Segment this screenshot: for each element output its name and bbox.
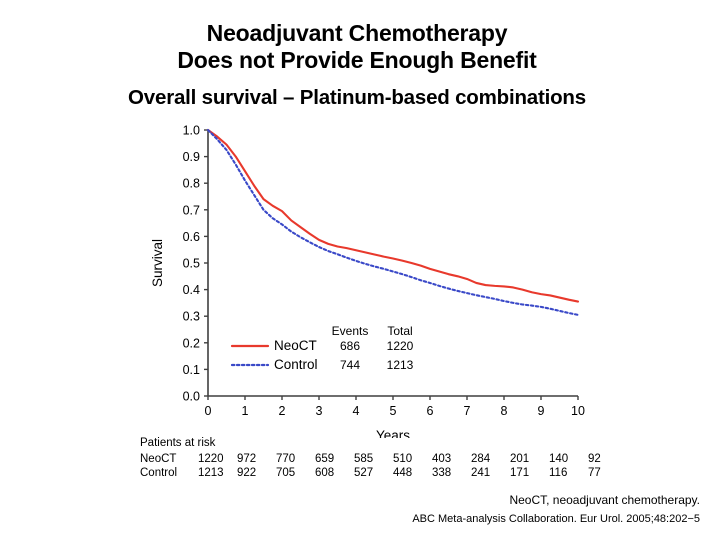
- x-tick-label: 5: [390, 404, 397, 418]
- risk-cell: 171: [510, 466, 549, 480]
- x-tick-label: 2: [279, 404, 286, 418]
- y-tick-label: 0.6: [183, 230, 200, 244]
- y-axis-title: Survival: [150, 239, 165, 287]
- y-tick-label: 0.9: [183, 150, 200, 164]
- risk-cell: 77: [588, 466, 627, 480]
- x-tick-label: 0: [205, 404, 212, 418]
- risk-cell: 510: [393, 452, 432, 466]
- series-line-control: [208, 130, 578, 315]
- patients-at-risk-table: Patients at risk NeoCT122097277065958551…: [140, 437, 610, 480]
- risk-cell: 448: [393, 466, 432, 480]
- risk-cell: 241: [471, 466, 510, 480]
- risk-cell: 140: [549, 452, 588, 466]
- risk-cell: 1220: [198, 452, 237, 466]
- risk-cell: 705: [276, 466, 315, 480]
- legend-header-total: Total: [387, 324, 412, 338]
- risk-cell: 585: [354, 452, 393, 466]
- x-tick-label: 8: [501, 404, 508, 418]
- series-line-neoct: [208, 130, 578, 302]
- title-line-1: Neoadjuvant Chemotherapy: [0, 20, 714, 47]
- table-row: NeoCT122097277065958551040328420114092: [140, 452, 627, 466]
- x-tick-label: 7: [464, 404, 471, 418]
- risk-table: NeoCT122097277065958551040328420114092Co…: [140, 452, 627, 480]
- x-tick-label: 4: [353, 404, 360, 418]
- y-tick-label: 0.5: [183, 257, 200, 271]
- legend-total-neoct: 1220: [387, 339, 414, 353]
- x-tick-label: 9: [538, 404, 545, 418]
- legend-events-neoct: 686: [340, 339, 360, 353]
- title-line-2: Does not Provide Enough Benefit: [0, 47, 714, 74]
- risk-cell: 403: [432, 452, 471, 466]
- abbreviation-note: NeoCT, neoadjuvant chemotherapy.: [412, 493, 700, 507]
- y-tick-label: 0.4: [183, 283, 200, 297]
- legend-header-events: Events: [332, 324, 369, 338]
- risk-cell: 1213: [198, 466, 237, 480]
- risk-cell: 92: [588, 452, 627, 466]
- risk-cell: 284: [471, 452, 510, 466]
- risk-row-label: NeoCT: [140, 452, 198, 466]
- risk-cell: 922: [237, 466, 276, 480]
- y-tick-label: 0.8: [183, 177, 200, 191]
- x-tick-label: 1: [242, 404, 249, 418]
- slide-footer: NeoCT, neoadjuvant chemotherapy. ABC Met…: [412, 493, 700, 525]
- citation: ABC Meta-analysis Collaboration. Eur Uro…: [412, 513, 700, 525]
- x-tick-label: 10: [571, 404, 585, 418]
- legend-total-control: 1213: [387, 358, 414, 372]
- risk-row-label: Control: [140, 466, 198, 480]
- table-row: Control121392270560852744833824117111677: [140, 466, 627, 480]
- risk-cell: 972: [237, 452, 276, 466]
- y-tick-label: 0.1: [183, 363, 200, 377]
- legend-label-neoct: NeoCT: [274, 338, 317, 353]
- risk-cell: 338: [432, 466, 471, 480]
- legend-label-control: Control: [274, 357, 318, 372]
- risk-cell: 116: [549, 466, 588, 480]
- risk-cell: 770: [276, 452, 315, 466]
- risk-table-heading: Patients at risk: [140, 437, 610, 449]
- x-tick-label: 3: [316, 404, 323, 418]
- y-tick-label: 0.7: [183, 203, 200, 217]
- risk-cell: 201: [510, 452, 549, 466]
- y-tick-label: 0.2: [183, 336, 200, 350]
- slide: Neoadjuvant Chemotherapy Does not Provid…: [0, 0, 714, 535]
- kaplan-meier-plot: 0.00.10.20.30.40.50.60.70.80.91.00123456…: [140, 118, 590, 438]
- legend-events-control: 744: [340, 358, 360, 372]
- risk-cell: 608: [315, 466, 354, 480]
- slide-title: Neoadjuvant Chemotherapy Does not Provid…: [0, 20, 714, 73]
- x-tick-label: 6: [427, 404, 434, 418]
- y-tick-label: 1.0: [183, 124, 200, 138]
- risk-cell: 659: [315, 452, 354, 466]
- y-tick-label: 0.3: [183, 310, 200, 324]
- y-tick-label: 0.0: [183, 390, 200, 404]
- risk-cell: 527: [354, 466, 393, 480]
- slide-subtitle: Overall survival – Platinum-based combin…: [0, 86, 714, 110]
- survival-chart: 0.00.10.20.30.40.50.60.70.80.91.00123456…: [140, 118, 590, 438]
